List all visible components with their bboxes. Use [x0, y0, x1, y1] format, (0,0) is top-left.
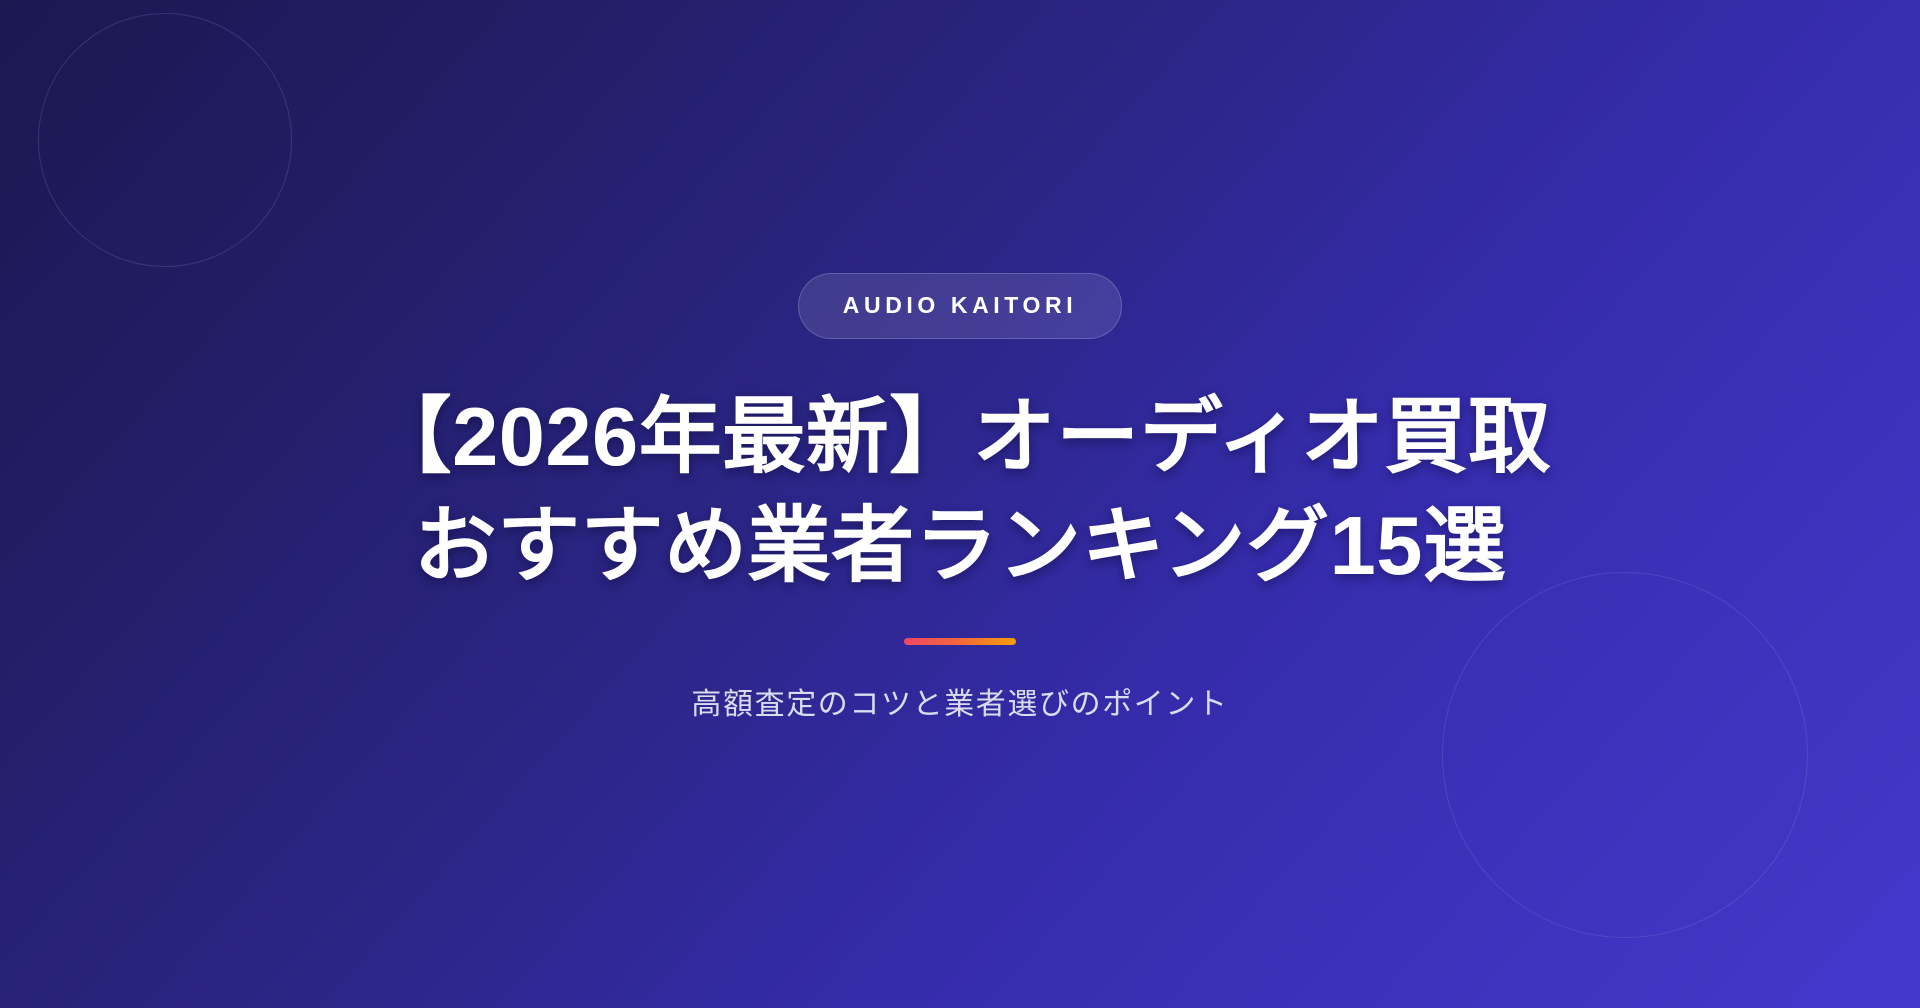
page-subtitle: 高額査定のコツと業者選びのポイント [691, 679, 1228, 723]
brand-eyebrow-badge: AUDIO KAITORI [798, 273, 1122, 339]
page-title-line-2: おすすめ業者ランキング15選 [369, 492, 1552, 601]
hero-banner: AUDIO KAITORI 【2026年最新】オーディオ買取 おすすめ業者ランキ… [0, 0, 1920, 1008]
page-title: 【2026年最新】オーディオ買取 おすすめ業者ランキング15選 [369, 383, 1552, 600]
accent-divider [904, 638, 1016, 645]
decorative-circle-top-left [38, 13, 292, 267]
page-title-line-1: 【2026年最新】オーディオ買取 [369, 383, 1552, 492]
hero-content: AUDIO KAITORI 【2026年最新】オーディオ買取 おすすめ業者ランキ… [0, 273, 1920, 723]
